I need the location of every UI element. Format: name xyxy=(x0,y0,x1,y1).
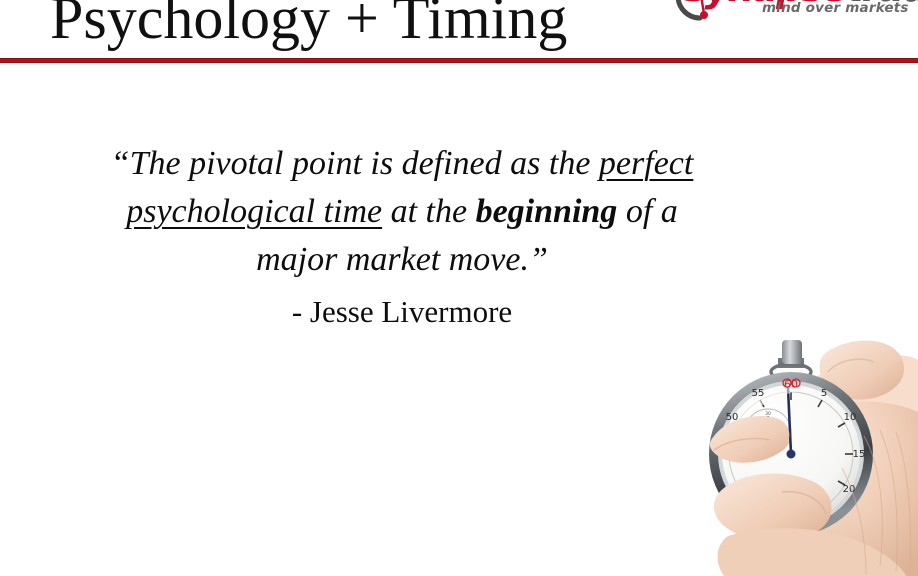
brand-logo[interactable]: synapsetrading mind over markets xyxy=(648,0,916,32)
quote-emphasis-psychological-time: psychological time xyxy=(126,193,382,230)
page-title: Psychology + Timing xyxy=(50,0,567,53)
logo-tagline: mind over markets xyxy=(762,0,909,16)
quote-attribution: - Jesse Livermore xyxy=(96,288,708,336)
quote-emphasis-beginning: beginning xyxy=(476,193,618,230)
stopwatch-photo-svg: 60 5 10 15 20 25 30 35 40 45 50 55 xyxy=(628,236,918,576)
stopwatch-crown xyxy=(782,340,802,364)
quote-line-1-text: “The pivotal point is defined as the xyxy=(111,145,599,182)
quote-line-2: psychological time at the beginning of a xyxy=(96,188,708,236)
stopwatch-hand-pivot xyxy=(787,450,796,459)
quote-line-2-text-b: of a xyxy=(617,193,677,230)
quote-line-1: “The pivotal point is defined as the per… xyxy=(96,140,708,188)
dial-label-15: 15 xyxy=(853,449,866,460)
quote-line-2-text-a: at the xyxy=(382,193,475,230)
quote-line-3: major market move.” xyxy=(96,236,708,284)
dial-label-5: 5 xyxy=(821,388,827,399)
slide-root: Psychology + Timing synapsetrading mind … xyxy=(0,0,918,576)
hand-holding-stopwatch-image: 60 5 10 15 20 25 30 35 40 45 50 55 xyxy=(628,236,918,576)
quote-emphasis-perfect: perfect xyxy=(599,145,693,182)
dial-label-10: 10 xyxy=(844,412,857,423)
quote-block: “The pivotal point is defined as the per… xyxy=(96,140,708,336)
title-divider-rule xyxy=(0,58,918,63)
